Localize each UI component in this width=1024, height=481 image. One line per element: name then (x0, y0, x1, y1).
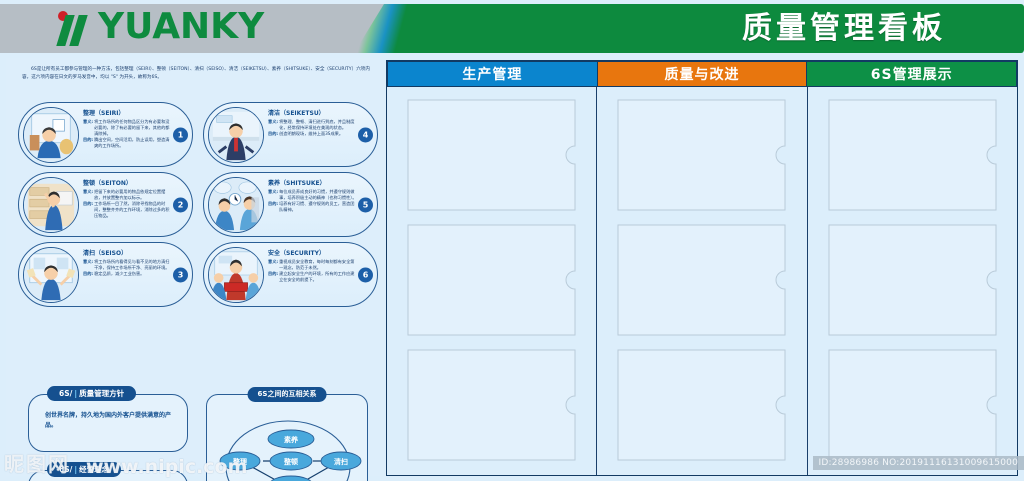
card-illustration (23, 177, 79, 233)
document-pocket[interactable] (828, 99, 997, 211)
image-id-text: ID:28986986 NO:20191116131009615000 (813, 456, 1024, 470)
card-meaning-text: 将整理、整顿、清扫进行到底，并且制度化，经常保持环境处在美观的状态。 (279, 119, 357, 131)
relation-node-right: 清扫 (334, 457, 348, 466)
card-body: 素养（SHITSUKE） 意义: 每位成员养成良好的习惯，并遵守规则做事，培养积… (268, 179, 357, 213)
card-meaning-label: 意义: (268, 119, 278, 131)
card-number-badge: 1 (173, 127, 188, 142)
card-number-badge: 3 (173, 267, 188, 282)
header-swoosh-decoration (350, 4, 430, 53)
intro-paragraph: 6S是让所有员工都参与管理的一种方法，包括整理（SEIRI）、整顿（SEITON… (22, 66, 370, 81)
card-meaning-label: 意义: (83, 119, 93, 137)
pocket-grid (387, 87, 1017, 475)
card-number-badge: 6 (358, 267, 373, 282)
card-body: 整理（SEIRI） 意义: 将工作场所的任何物品区分为有必要和没必要的，除了有必… (83, 109, 172, 149)
card-meaning-label: 意义: (268, 259, 278, 271)
column-header-quality[interactable]: 质量与改进 (597, 61, 808, 87)
six-s-card-row: 清扫（SEISO） 意义: 将工作场所内看得见与看不见的地方清扫干净，保持工作场… (18, 242, 378, 307)
pocket-column-production (387, 87, 597, 475)
card-purpose: 目的: 腾出空间，空间活用，防止误用，塑造清爽的工作场所。 (83, 137, 172, 149)
card-purpose-label: 目的: (83, 137, 93, 149)
document-pocket[interactable] (828, 224, 997, 336)
card-meaning-label: 意义: (268, 189, 278, 201)
card-body: 清扫（SEISO） 意义: 将工作场所内看得见与看不见的地方清扫干净，保持工作场… (83, 249, 172, 277)
card-meaning-text: 把留下来的必要用的物品依规定位置摆放，并放置整齐加以标示。 (94, 189, 172, 201)
card-purpose: 目的: 工作场所一目了然，消除寻找物品的时间，整整齐齐的工作环境，消除过多的积压… (83, 201, 172, 219)
card-meaning-text: 每位成员养成良好的习惯，并遵守规则做事，培养积极主动的精神（也称习惯性）。 (279, 189, 357, 201)
document-pocket[interactable] (407, 349, 576, 461)
watermark-logo: 昵图网 (4, 452, 70, 476)
card-purpose: 目的: 培养有好习惯、遵守规则的员工，营造团队精神。 (268, 201, 357, 213)
card-meaning-text: 将工作场所的任何物品区分为有必要和没必要的，除了有必要的留下来，其他的都清除掉。 (94, 119, 172, 137)
quality-policy-title: 6S/|质量管理方针 (47, 386, 136, 401)
quality-policy-label: 质量管理方针 (79, 389, 124, 398)
card-meaning: 意义: 将工作场所的任何物品区分为有必要和没必要的，除了有必要的留下来，其他的都… (83, 119, 172, 137)
six-s-card[interactable]: 清洁（SEIKETSU） 意义: 将整理、整顿、清扫进行到底，并且制度化，经常保… (203, 102, 378, 167)
card-title: 清扫（SEISO） (83, 249, 172, 258)
document-pocket[interactable] (617, 349, 786, 461)
document-pocket[interactable] (617, 99, 786, 211)
quality-management-board: YUANKY 质量管理看板 6S是让所有员工都参与管理的一种方法，包括整理（SE… (0, 0, 1024, 481)
board-header: YUANKY 质量管理看板 (0, 0, 1024, 56)
card-meaning-text: 重视成员安全教育，每时每刻都有安全第一观念，防范于未然。 (279, 259, 357, 271)
six-s-card[interactable]: 素养（SHITSUKE） 意义: 每位成员养成良好的习惯，并遵守规则做事，培养积… (203, 172, 378, 237)
card-illustration (23, 247, 79, 303)
card-purpose-label: 目的: (83, 271, 93, 277)
card-meaning-label: 意义: (83, 259, 93, 271)
page-title: 质量管理看板 (742, 9, 946, 49)
card-illustration (23, 107, 79, 163)
card-purpose-text: 建立起安全生产的环境，所有的工作应建立在安全的前提下。 (279, 271, 357, 283)
six-s-card[interactable]: 清扫（SEISO） 意义: 将工作场所内看得见与看不见的地方清扫干净，保持工作场… (18, 242, 193, 307)
six-s-card-row: 整理（SEIRI） 意义: 将工作场所的任何物品区分为有必要和没必要的，除了有必… (18, 102, 378, 167)
company-name: YUANKY (98, 6, 264, 48)
card-meaning: 意义: 每位成员养成良好的习惯，并遵守规则做事，培养积极主动的精神（也称习惯性）… (268, 189, 357, 201)
card-meaning-label: 意义: (83, 189, 93, 201)
card-meaning: 意义: 将整理、整顿、清扫进行到底，并且制度化，经常保持环境处在美观的状态。 (268, 119, 357, 131)
card-meaning-text: 将工作场所内看得见与看不见的地方清扫干净，保持工作场所干净、亮丽的环境。 (94, 259, 172, 271)
document-pocket[interactable] (407, 224, 576, 336)
relation-node-top: 素养 (284, 435, 298, 444)
quality-policy-text: 创世界名牌，持久地为国内外客户提供满意的产品。 (45, 411, 177, 431)
relation-node-center: 整顿 (283, 457, 298, 466)
six-s-card-grid: 整理（SEIRI） 意义: 将工作场所的任何物品区分为有必要和没必要的，除了有必… (18, 102, 378, 312)
card-purpose-label: 目的: (268, 271, 278, 283)
document-pocket[interactable] (828, 349, 997, 461)
card-purpose-text: 腾出空间，空间活用，防止误用，塑造清爽的工作场所。 (94, 137, 172, 149)
card-body: 整顿（SEITON） 意义: 把留下来的必要用的物品依规定位置摆放，并放置整齐加… (83, 179, 172, 219)
card-title: 素养（SHITSUKE） (268, 179, 357, 188)
document-pocket[interactable] (407, 99, 576, 211)
card-purpose: 目的: 建立起安全生产的环境，所有的工作应建立在安全的前提下。 (268, 271, 357, 283)
yuanky-checkmark-logo-icon (52, 6, 96, 48)
watermark-url: www.nipic.com (86, 455, 247, 479)
card-purpose-label: 目的: (268, 131, 278, 137)
column-header-production[interactable]: 生产管理 (387, 61, 598, 87)
column-headers: 生产管理 质量与改进 6S管理展示 (387, 61, 1017, 87)
card-body: 安全（SECURITY） 意义: 重视成员安全教育，每时每刻都有安全第一观念，防… (268, 249, 357, 283)
card-purpose-text: 稳定品质，减少工业伤害。 (94, 271, 172, 277)
card-title: 整理（SEIRI） (83, 109, 172, 118)
six-s-card[interactable]: 安全（SECURITY） 意义: 重视成员安全教育，每时每刻都有安全第一观念，防… (203, 242, 378, 307)
column-header-six-s[interactable]: 6S管理展示 (806, 61, 1017, 87)
card-title: 清洁（SEIKETSU） (268, 109, 357, 118)
card-meaning: 意义: 将工作场所内看得见与看不见的地方清扫干净，保持工作场所干净、亮丽的环境。 (83, 259, 172, 271)
card-number-badge: 4 (358, 127, 373, 142)
card-meaning: 意义: 把留下来的必要用的物品依规定位置摆放，并放置整齐加以标示。 (83, 189, 172, 201)
card-illustration (208, 247, 264, 303)
card-purpose-text: 工作场所一目了然，消除寻找物品的时间，整整齐齐的工作环境，消除过多的积压物品。 (94, 201, 172, 219)
card-illustration (208, 107, 264, 163)
card-title: 整顿（SEITON） (83, 179, 172, 188)
card-purpose-text: 创造明朗现场，维持上面3S成果。 (279, 131, 357, 137)
pocket-column-quality (597, 87, 807, 475)
card-purpose-label: 目的: (268, 201, 278, 213)
document-pocket[interactable] (617, 224, 786, 336)
card-number-badge: 5 (358, 197, 373, 212)
six-s-card[interactable]: 整顿（SEITON） 意义: 把留下来的必要用的物品依规定位置摆放，并放置整齐加… (18, 172, 193, 237)
card-purpose-label: 目的: (83, 201, 93, 219)
card-illustration (208, 177, 264, 233)
card-purpose: 目的: 创造明朗现场，维持上面3S成果。 (268, 131, 357, 137)
card-meaning: 意义: 重视成员安全教育，每时每刻都有安全第一观念，防范于未然。 (268, 259, 357, 271)
card-purpose-text: 培养有好习惯、遵守规则的员工，营造团队精神。 (279, 201, 357, 213)
six-s-card[interactable]: 整理（SEIRI） 意义: 将工作场所的任何物品区分为有必要和没必要的，除了有必… (18, 102, 193, 167)
pocket-column-six-s (808, 87, 1017, 475)
card-number-badge: 2 (173, 197, 188, 212)
left-info-panel: 6S是让所有员工都参与管理的一种方法，包括整理（SEIRI）、整顿（SEITON… (6, 58, 380, 476)
company-logo: YUANKY (52, 6, 264, 48)
right-display-panel: 生产管理 质量与改进 6S管理展示 (386, 60, 1018, 476)
card-body: 清洁（SEIKETSU） 意义: 将整理、整顿、清扫进行到底，并且制度化，经常保… (268, 109, 357, 137)
quality-policy-box: 6S/|质量管理方针 创世界名牌，持久地为国内外客户提供满意的产品。 (28, 394, 188, 452)
quality-policy-prefix: 6S/ (59, 389, 72, 398)
six-s-card-row: 整顿（SEITON） 意义: 把留下来的必要用的物品依规定位置摆放，并放置整齐加… (18, 172, 378, 237)
card-purpose: 目的: 稳定品质，减少工业伤害。 (83, 271, 172, 277)
card-title: 安全（SECURITY） (268, 249, 357, 258)
